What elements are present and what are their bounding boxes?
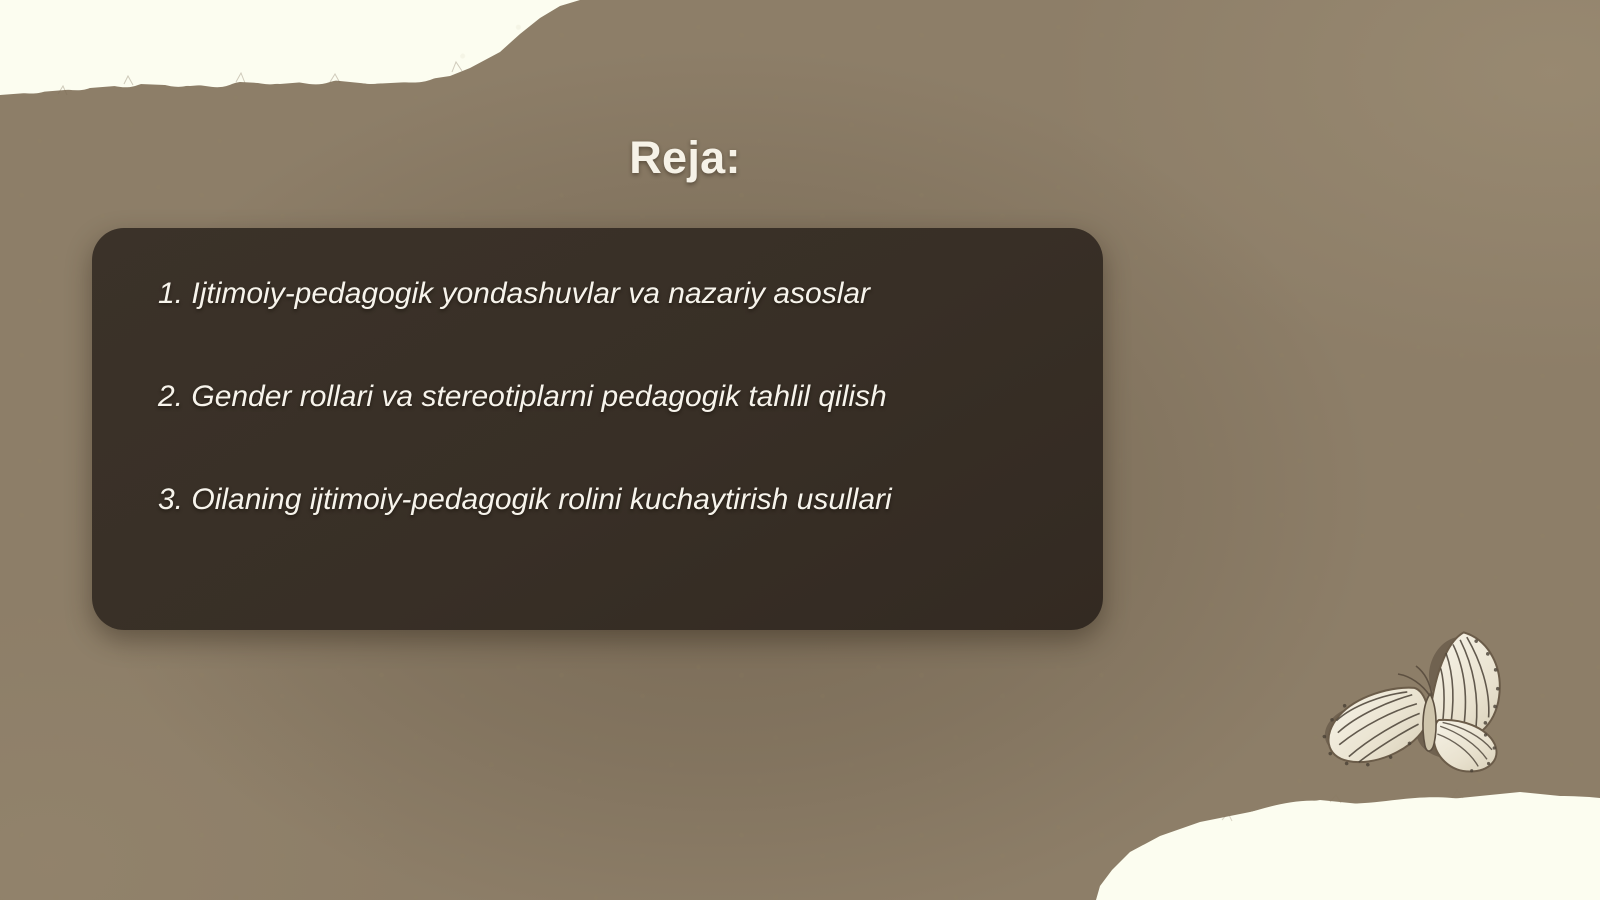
page-title: Reja: — [0, 132, 1370, 184]
list-item: 1. Ijtimoiy-pedagogik yondashuvlar va na… — [158, 276, 1063, 312]
slide-canvas: Reja: 1. Ijtimoiy-pedagogik yondashuvlar… — [0, 0, 1600, 900]
plan-list: 1. Ijtimoiy-pedagogik yondashuvlar va na… — [158, 276, 1063, 518]
butterfly-icon — [1306, 618, 1506, 808]
list-item: 2. Gender rollari va stereotiplarni peda… — [158, 379, 1063, 415]
plan-card: 1. Ijtimoiy-pedagogik yondashuvlar va na… — [92, 228, 1103, 630]
list-item: 3. Oilaning ijtimoiy-pedagogik rolini ku… — [158, 482, 1063, 518]
